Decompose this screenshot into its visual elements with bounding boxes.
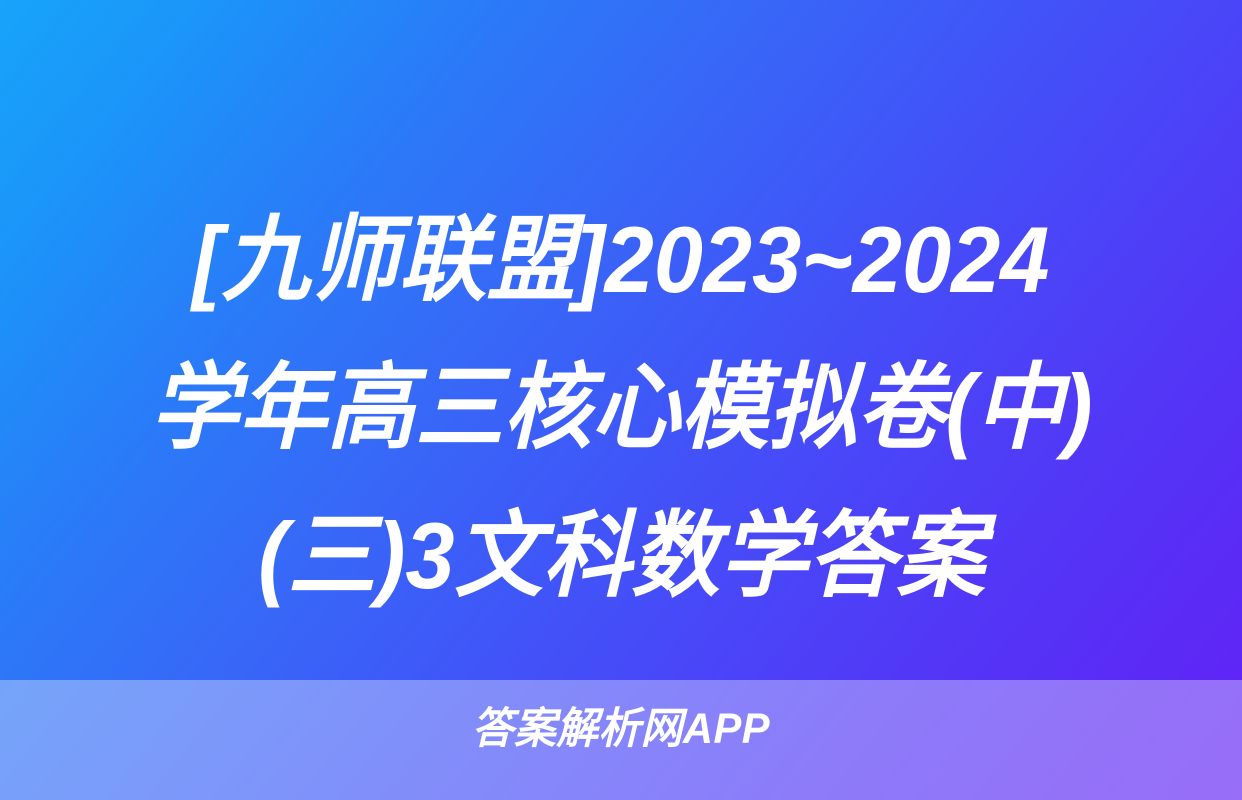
cover-image: [九师联盟]2023~2024 学年高三核心模拟卷(中) (三)3文科数学答案 …: [0, 0, 1242, 800]
title-line-2: 学年高三核心模拟卷(中): [150, 334, 1092, 482]
title-block: [九师联盟]2023~2024 学年高三核心模拟卷(中) (三)3文科数学答案: [0, 186, 1242, 636]
title-line-3: (三)3文科数学答案: [258, 482, 985, 630]
watermark-text: 答案解析网APP: [19, 703, 1224, 755]
title-line-1: [九师联盟]2023~2024: [192, 186, 1049, 334]
